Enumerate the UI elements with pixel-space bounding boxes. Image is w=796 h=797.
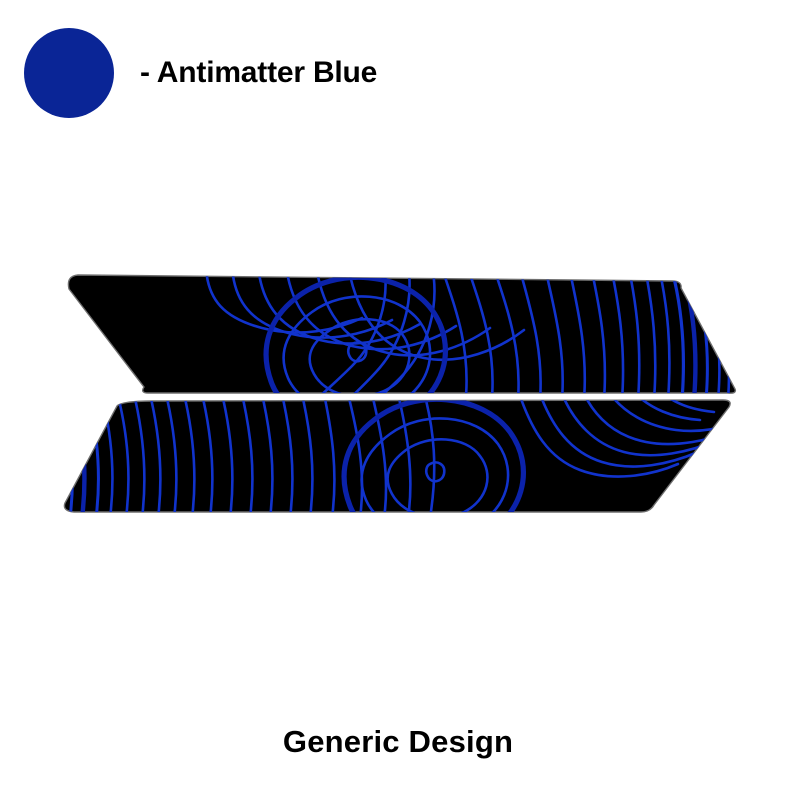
canvas-root: - Antimatter Blue Generic Design bbox=[0, 0, 796, 797]
bottom-panel-group bbox=[62, 392, 738, 550]
artwork-container bbox=[0, 0, 796, 797]
top-panel-contours bbox=[206, 262, 738, 428]
top-panel-group bbox=[68, 262, 737, 428]
color-name-label: - Antimatter Blue bbox=[140, 58, 377, 88]
color-swatch-circle[interactable] bbox=[24, 28, 114, 118]
color-legend: - Antimatter Blue bbox=[24, 28, 377, 118]
top-panel-body bbox=[68, 275, 735, 393]
bottom-panel-body bbox=[64, 400, 730, 512]
design-caption: Generic Design bbox=[0, 726, 796, 757]
decal-artwork-svg bbox=[0, 0, 796, 797]
bottom-panel-contours bbox=[62, 392, 738, 550]
